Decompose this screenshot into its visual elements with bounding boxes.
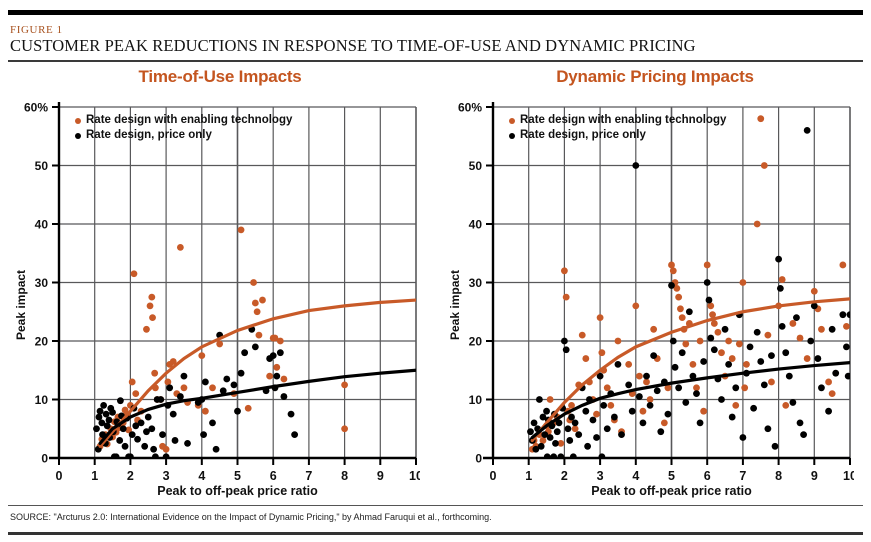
svg-text:10: 10	[409, 469, 420, 483]
svg-text:0: 0	[56, 469, 63, 483]
panel-title-left: Time-of-Use Impacts	[20, 67, 420, 87]
svg-text:30: 30	[469, 276, 483, 290]
legend-dot-black	[75, 133, 81, 139]
source-rule	[8, 505, 863, 506]
svg-text:0: 0	[490, 469, 497, 483]
svg-text:8: 8	[775, 469, 782, 483]
svg-text:4: 4	[198, 469, 205, 483]
svg-text:9: 9	[377, 469, 384, 483]
svg-text:1: 1	[91, 469, 98, 483]
bottom-rule	[8, 532, 863, 535]
chart-dynamic-pricing: 0102030405060%012345678910	[434, 95, 854, 495]
legend-dot-orange	[509, 118, 515, 124]
svg-text:3: 3	[597, 469, 604, 483]
figure-label: Figure 1	[10, 24, 63, 36]
legend-label-orange: Rate design with enabling technology	[520, 113, 726, 128]
svg-text:10: 10	[35, 393, 49, 407]
legend-right: Rate design with enabling technology Rat…	[509, 113, 726, 143]
svg-text:60%: 60%	[458, 101, 482, 115]
title-underrule	[8, 60, 863, 62]
legend-label-black: Rate design, price only	[86, 128, 212, 143]
svg-text:10: 10	[843, 469, 854, 483]
svg-text:7: 7	[739, 469, 746, 483]
figure-container: Figure 1 CUSTOMER PEAK REDUCTIONS IN RES…	[0, 0, 871, 542]
legend-item-orange: Rate design with enabling technology	[75, 113, 292, 128]
legend-label-orange: Rate design with enabling technology	[86, 113, 292, 128]
svg-text:10: 10	[469, 393, 483, 407]
legend-item-black: Rate design, price only	[509, 128, 726, 143]
svg-text:0: 0	[41, 452, 48, 466]
legend-dot-orange	[75, 118, 81, 124]
svg-text:3: 3	[163, 469, 170, 483]
svg-text:1: 1	[525, 469, 532, 483]
svg-text:0: 0	[475, 452, 482, 466]
svg-text:6: 6	[270, 469, 277, 483]
svg-text:8: 8	[341, 469, 348, 483]
legend-dot-black	[509, 133, 515, 139]
svg-text:60%: 60%	[24, 101, 48, 115]
svg-text:5: 5	[668, 469, 675, 483]
y-axis-label-left: Peak impact	[14, 270, 28, 340]
top-rule	[8, 10, 863, 15]
svg-text:30: 30	[35, 276, 49, 290]
svg-text:2: 2	[127, 469, 134, 483]
svg-text:50: 50	[35, 159, 49, 173]
svg-text:2: 2	[561, 469, 568, 483]
svg-text:5: 5	[234, 469, 241, 483]
svg-text:9: 9	[811, 469, 818, 483]
source-note: SOURCE: "Arcturus 2.0: International Evi…	[10, 512, 492, 522]
x-axis-label-left: Peak to off-peak price ratio	[59, 484, 416, 498]
legend-item-black: Rate design, price only	[75, 128, 292, 143]
svg-text:6: 6	[704, 469, 711, 483]
svg-text:20: 20	[469, 335, 483, 349]
legend-item-orange: Rate design with enabling technology	[509, 113, 726, 128]
svg-text:7: 7	[305, 469, 312, 483]
y-axis-label-right: Peak impact	[448, 270, 462, 340]
x-axis-label-right: Peak to off-peak price ratio	[493, 484, 850, 498]
svg-text:20: 20	[35, 335, 49, 349]
legend-label-black: Rate design, price only	[520, 128, 646, 143]
legend-left: Rate design with enabling technology Rat…	[75, 113, 292, 143]
page-title: CUSTOMER PEAK REDUCTIONS IN RESPONSE TO …	[10, 36, 696, 56]
svg-text:40: 40	[35, 218, 49, 232]
panel-title-right: Dynamic Pricing Impacts	[455, 67, 855, 87]
svg-text:4: 4	[632, 469, 639, 483]
chart-time-of-use: 0102030405060%012345678910	[0, 95, 420, 495]
svg-text:50: 50	[469, 159, 483, 173]
svg-text:40: 40	[469, 218, 483, 232]
